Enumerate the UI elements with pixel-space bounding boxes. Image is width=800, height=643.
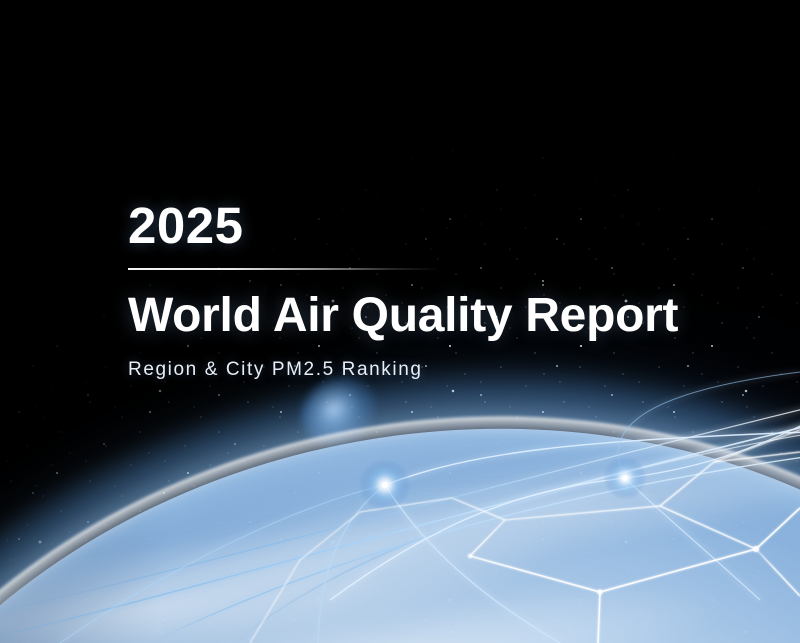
network-arc — [0, 418, 800, 643]
network-mesh-edge — [756, 549, 800, 596]
title-divider — [128, 268, 440, 270]
cover-subtitle: Region & City PM2.5 Ranking — [128, 360, 768, 379]
network-node-mesh-lower-icon — [597, 589, 602, 594]
page-title: World Air Quality Report — [128, 292, 768, 340]
cover-year: 2025 — [128, 200, 768, 251]
network-arc — [60, 485, 385, 643]
network-node-mesh-right-icon — [753, 546, 759, 552]
network-mesh-edge — [598, 592, 600, 643]
cover-title-block: 2025 World Air Quality Report Region & C… — [128, 200, 768, 379]
network-node-arc-group — [60, 372, 800, 643]
network-mesh-group — [250, 430, 800, 643]
network-mesh-edge — [470, 508, 800, 592]
network-arc-group — [0, 400, 800, 643]
network-node-left-icon — [382, 482, 388, 488]
network-node-right-icon — [622, 475, 628, 481]
network-arc — [625, 478, 760, 600]
network-node-mesh-left-icon — [468, 554, 472, 558]
network-arc — [0, 400, 800, 618]
report-cover: 2025 World Air Quality Report Region & C… — [0, 0, 800, 643]
